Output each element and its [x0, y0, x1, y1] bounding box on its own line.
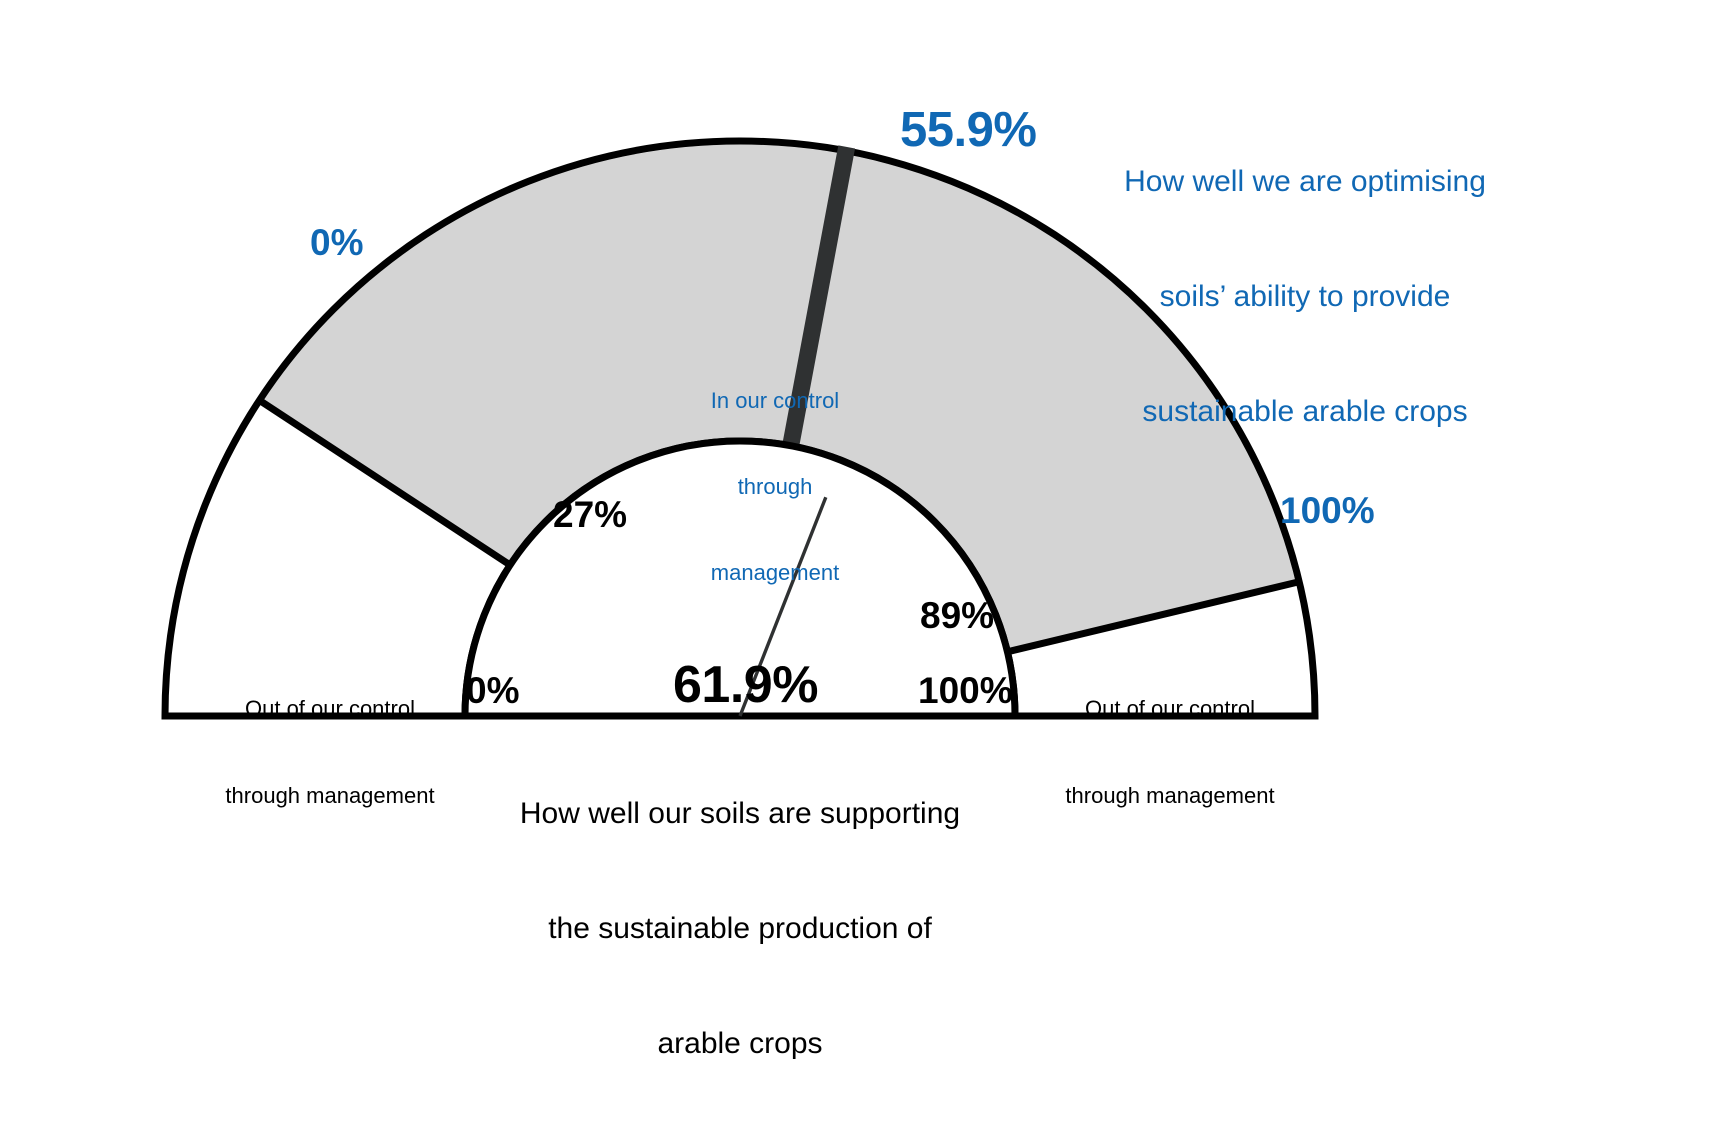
- in-control-note: In our control through management: [700, 330, 850, 645]
- in-control-note-line-2: through: [700, 473, 850, 502]
- outer-left-note-line-1: Out of our control: [200, 694, 460, 723]
- inner-max-label: 100%: [918, 670, 1013, 713]
- outer-caption-line-1: How well we are optimising: [1100, 163, 1510, 201]
- inner-min-label: 0%: [466, 670, 519, 713]
- inner-caption-line-2: the sustainable production of: [495, 910, 985, 948]
- outer-right-note: Out of our control through management: [1040, 636, 1300, 868]
- in-control-note-line-1: In our control: [700, 387, 850, 416]
- outer-caption-line-2: soils’ ability to provide: [1100, 278, 1510, 316]
- inner-89-label: 89%: [920, 595, 994, 638]
- inner-caption-line-1: How well our soils are supporting: [495, 795, 985, 833]
- inner-caption-line-3: arable crops: [495, 1025, 985, 1063]
- gauge-chart-canvas: 55.9% How well we are optimising soils’ …: [0, 0, 1719, 967]
- in-control-note-line-3: management: [700, 559, 850, 588]
- outer-left-note: Out of our control through management: [200, 636, 460, 868]
- outer-right-note-line-2: through management: [1040, 781, 1300, 810]
- outer-max-label: 100%: [1280, 490, 1375, 533]
- outer-right-note-line-1: Out of our control: [1040, 694, 1300, 723]
- inner-caption: How well our soils are supporting the su…: [495, 718, 985, 1140]
- outer-min-label: 0%: [310, 222, 363, 265]
- outer-value-label: 55.9%: [900, 102, 1036, 159]
- outer-left-note-line-2: through management: [200, 781, 460, 810]
- outer-caption: How well we are optimising soils’ abilit…: [1100, 86, 1510, 508]
- inner-27-label: 27%: [553, 494, 627, 537]
- outer-caption-line-3: sustainable arable crops: [1100, 393, 1510, 431]
- inner-value-label: 61.9%: [673, 655, 818, 715]
